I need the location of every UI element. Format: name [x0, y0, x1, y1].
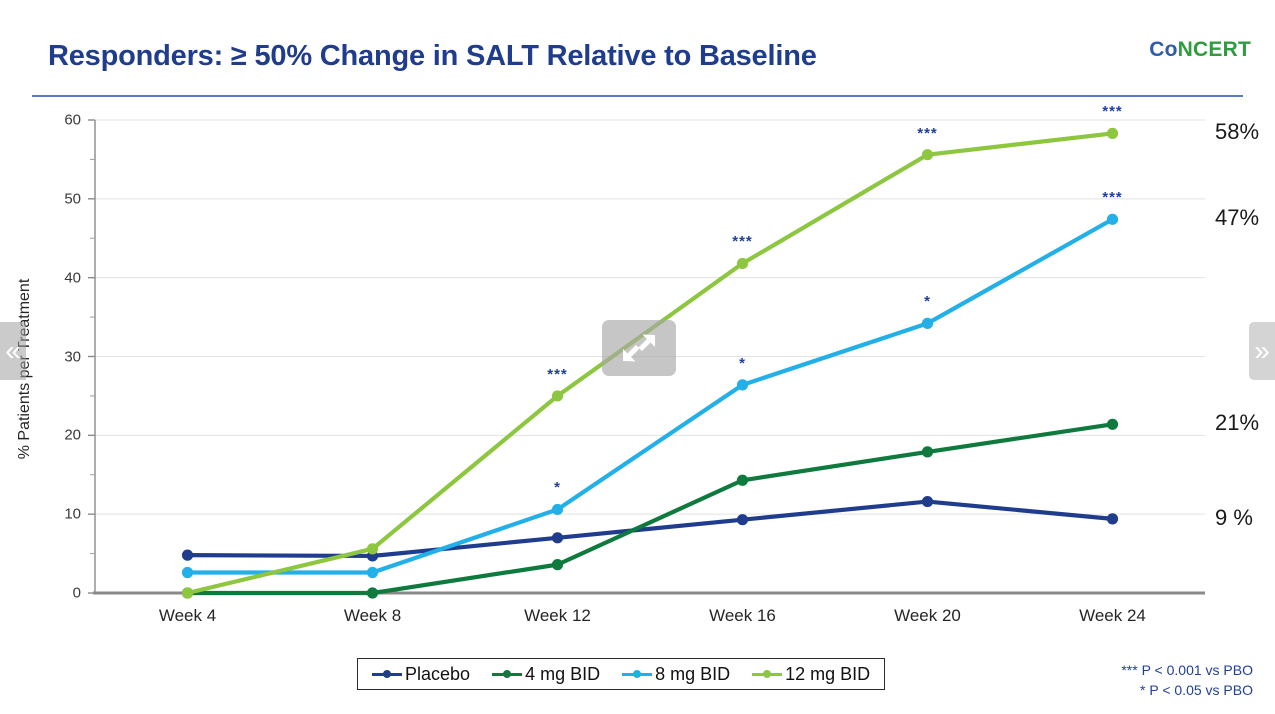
footnote-line-1: *** P < 0.001 vs PBO [1121, 660, 1253, 680]
chart-legend: Placebo4 mg BID8 mg BID12 mg BID [357, 658, 885, 690]
significance-marker: *** [1102, 103, 1123, 120]
legend-item-label: 12 mg BID [785, 664, 870, 685]
logo-text-co: Co [1149, 38, 1177, 61]
concert-logo: CoNCERT [1149, 38, 1251, 62]
x-axis-tick-label: Week 8 [344, 606, 401, 626]
x-axis-tick-label: Week 12 [524, 606, 591, 626]
page-title: Responders: ≥ 50% Change in SALT Relativ… [48, 40, 817, 73]
expand-arrows-icon [621, 332, 657, 364]
legend-color-swatch [622, 668, 652, 680]
significance-marker: *** [917, 125, 938, 142]
y-axis-tick-label: 60 [47, 112, 81, 129]
legend-item[interactable]: 8 mg BID [622, 664, 730, 685]
legend-color-swatch [492, 668, 522, 680]
series-end-value-label: 47% [1215, 205, 1259, 231]
x-axis-tick-label: Week 24 [1079, 606, 1146, 626]
x-axis-tick-label: Week 20 [894, 606, 961, 626]
significance-marker: * [924, 293, 931, 310]
significance-marker: *** [1102, 189, 1123, 206]
x-axis-tick-label: Week 4 [159, 606, 216, 626]
significance-marker: * [554, 479, 561, 496]
expand-fullscreen-button[interactable] [602, 320, 676, 376]
legend-item[interactable]: 4 mg BID [492, 664, 600, 685]
series-end-value-label: 21% [1215, 410, 1259, 436]
y-axis-tick-label: 20 [47, 427, 81, 444]
previous-slide-button[interactable]: « [0, 322, 26, 380]
legend-item[interactable]: 12 mg BID [752, 664, 870, 685]
significance-footnotes: *** P < 0.001 vs PBO * P < 0.05 vs PBO [1121, 660, 1253, 700]
y-axis-tick-label: 30 [47, 348, 81, 365]
y-axis-tick-label: 10 [47, 506, 81, 523]
slide-root: Responders: ≥ 50% Change in SALT Relativ… [0, 0, 1275, 714]
next-slide-button[interactable]: » [1249, 322, 1275, 380]
footnote-line-2: * P < 0.05 vs PBO [1121, 680, 1253, 700]
logo-text-ncert: NCERT [1178, 38, 1251, 61]
y-axis-tick-label: 50 [47, 190, 81, 207]
y-axis-tick-label: 0 [47, 585, 81, 602]
legend-item-label: Placebo [405, 664, 470, 685]
significance-marker: * [739, 355, 746, 372]
significance-marker: *** [732, 233, 753, 250]
x-axis-tick-label: Week 16 [709, 606, 776, 626]
legend-color-swatch [372, 668, 402, 680]
legend-item-label: 4 mg BID [525, 664, 600, 685]
legend-item[interactable]: Placebo [372, 664, 470, 685]
legend-item-label: 8 mg BID [655, 664, 730, 685]
series-end-value-label: 58% [1215, 119, 1259, 145]
title-divider [32, 95, 1243, 97]
legend-color-swatch [752, 668, 782, 680]
significance-marker: *** [547, 366, 568, 383]
y-axis-tick-label: 40 [47, 269, 81, 286]
series-end-value-label: 9 % [1215, 505, 1253, 531]
